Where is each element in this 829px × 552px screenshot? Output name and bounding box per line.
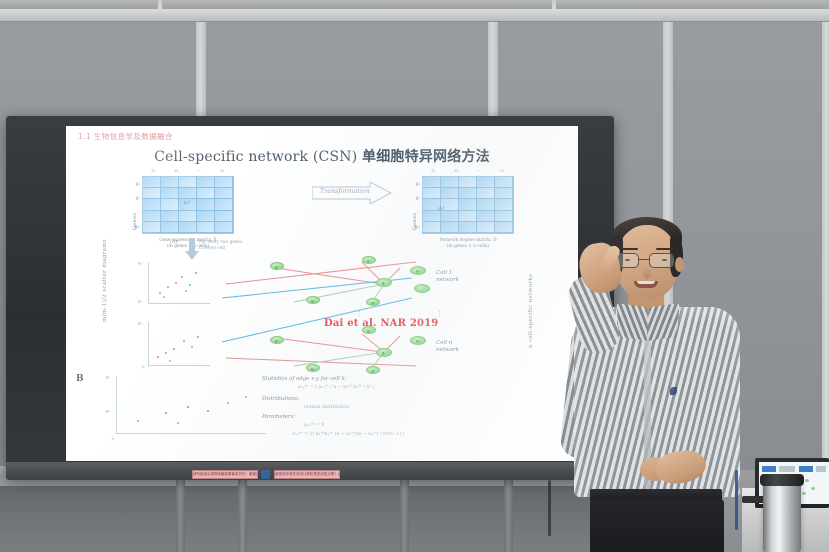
panel-b-origin: 0 <box>112 436 115 441</box>
scatter-side-label: m(m-1)/2 scatter diagrams <box>102 239 108 322</box>
col-label: c₂ <box>174 168 178 173</box>
wall-pillar-4 <box>822 22 829 470</box>
presenter-nose <box>643 267 651 279</box>
scatter-2-y-label: gᵧ <box>138 320 142 325</box>
network-ellipsis: ⋮ <box>356 310 365 318</box>
cabinet-leg-4 <box>504 476 513 552</box>
network-2-node: gₓ <box>376 348 392 357</box>
cabinet-leg-2 <box>238 476 247 552</box>
network-name-line-2: network <box>436 347 459 353</box>
row-label: g₁ <box>130 181 140 186</box>
network-side-label: n cell-specific networks <box>528 274 534 348</box>
network-1-node <box>414 284 430 293</box>
presenter-trousers <box>590 499 724 552</box>
network-ellipsis: ⋮ <box>436 310 445 318</box>
scatter-panel-1 <box>148 262 210 304</box>
gene-expression-matrix-group: c₁ c₂ ··· cₙ g₁ g₂ ⋮ gₘ <box>142 176 234 234</box>
presenter-brow-right <box>656 248 674 250</box>
network-1-label: Cell 1 network <box>436 270 459 284</box>
thermos-lid <box>760 474 804 486</box>
slide-title-en: Cell-specific network (CSN) <box>154 149 362 165</box>
col-label: cₙ <box>220 168 224 173</box>
presenter <box>560 215 750 552</box>
distributions-title: Distributions: <box>262 396 299 402</box>
row-label: g₁ <box>410 181 420 186</box>
slide-title-cn: 单细胞特异网络方法 <box>362 149 490 165</box>
slide-title: Cell-specific network (CSN) 单细胞特异网络方法 <box>66 146 578 166</box>
row-label: g₂ <box>130 195 140 200</box>
shirt-collar-left <box>616 303 649 341</box>
ceiling-strip-mid <box>162 0 552 9</box>
caption-line-2: (m genes × n cells) <box>447 244 489 249</box>
scatter-2-origin: 0 <box>142 364 145 369</box>
left-matrix-axis-label: Genes <box>132 213 138 230</box>
network-degree-matrix-group: c₁ c₂ ··· cₙ g₁ g₂ ⋮ gₘ <box>422 176 514 234</box>
ceiling-strip-right <box>556 0 829 9</box>
network-name-line-2: network <box>436 277 459 283</box>
row-label: g₂ <box>410 195 420 200</box>
panel-b-plot <box>116 376 266 434</box>
network-1-node: g₂ <box>270 262 284 270</box>
panel-b-x-label: gₓ <box>106 408 110 413</box>
glasses-icon <box>614 253 682 268</box>
network-edges <box>216 254 436 374</box>
network-1-node: gₘ <box>306 296 320 304</box>
down-arrow-note: For every two genes in every cell <box>199 239 242 250</box>
warning-sticker-1: 请勿使用尖锐物体触碰屏幕或书写！谢谢！ <box>192 470 258 479</box>
paper-citation: Dai et al. NAR 2019 <box>324 318 438 329</box>
scatter-panel-2 <box>148 322 210 366</box>
panel-b-y-label: gᵧ <box>106 374 110 379</box>
panel-b-letter: B <box>76 374 84 384</box>
down-arrow-icon <box>185 238 199 260</box>
distributions-expression: normal distribution <box>304 405 349 410</box>
caption-line-1: Network degree matrix, D <box>439 238 496 243</box>
presenter-teeth <box>637 281 655 284</box>
right-matrix-entry: dₓᵏ <box>438 206 445 212</box>
blue-cable <box>735 470 738 530</box>
slide-section-header: 1.1 生物信息学及数据融合 <box>78 131 173 142</box>
shirt-logo <box>670 387 677 395</box>
parameters-title: Parameters: <box>262 414 295 420</box>
presenter-brow-left <box>620 248 638 250</box>
parameters-expression-2: σₓᵧ⁽ᵏ⁾ = √( nₓ⁽ᵏ⁾nᵧ⁽ᵏ⁾ (n − nₓ⁽ᵏ⁾)(n − n… <box>292 432 405 437</box>
bluetooth-icon <box>261 470 270 479</box>
parameters-expression-1: μₓᵧ⁽ᵏ⁾ = 0 <box>304 423 324 428</box>
left-matrix-col-labels: c₁ c₂ ··· cₙ <box>142 168 234 173</box>
network-1-node: g₁ <box>362 256 376 264</box>
right-matrix-grid <box>422 176 514 234</box>
statistics-title: Statistics of edge x-y for cell k: <box>262 376 347 382</box>
col-label: ··· <box>477 168 481 173</box>
transformation-label: Transformation <box>314 188 376 195</box>
left-matrix-entry: xₓᵏ <box>184 200 190 206</box>
warning-sticker-2: 使用完毕请先关闭计算机再关闭显示屏！谢谢！ <box>274 470 340 479</box>
col-label: c₂ <box>454 168 458 173</box>
col-label: cₙ <box>500 168 504 173</box>
floor-cable <box>548 480 551 536</box>
panel-a-marker: (A) <box>170 239 178 245</box>
cabinet-leg-1 <box>176 476 185 552</box>
network-2-node: gₖ <box>366 366 380 374</box>
network-1-node: gₖ <box>366 298 380 306</box>
note-line-1: For every two genes <box>199 239 242 244</box>
network-2-node: g₂ <box>270 336 284 344</box>
statistics-expression: ρₓᵧ⁽ᵏ⁾ = ( nₓᵧ⁽ᵏ⁾ / n − nₓ⁽ᵏ⁾ nᵧ⁽ᵏ⁾ / n²… <box>298 385 375 390</box>
col-label: c₁ <box>431 168 435 173</box>
right-matrix-caption: Network degree matrix, D (m genes × n ce… <box>408 238 528 250</box>
lecture-room-scene: 1.1 生物信息学及数据融合 Cell-specific network (CS… <box>0 0 829 552</box>
col-label: c₁ <box>151 168 155 173</box>
ceiling-strip-left <box>0 0 158 9</box>
network-1-node: gᵧ <box>410 266 426 275</box>
note-line-2: in every cell <box>199 245 225 250</box>
thermos <box>763 480 801 552</box>
network-1-node: gₓ <box>376 278 392 287</box>
right-matrix-col-labels: c₁ c₂ ··· cₙ <box>422 168 514 173</box>
presentation-slide: 1.1 生物信息学及数据融合 Cell-specific network (CS… <box>66 126 578 461</box>
cabinet-leg-3 <box>400 476 409 552</box>
col-label: ··· <box>197 168 201 173</box>
right-matrix-axis-label: Genes <box>412 213 418 230</box>
network-2-node: gₘ <box>306 364 320 372</box>
cabinet-recess <box>0 486 640 552</box>
network-name-line-1: Cell 1 <box>436 270 452 276</box>
display-screen[interactable]: 1.1 生物信息学及数据融合 Cell-specific network (CS… <box>66 126 578 461</box>
shirt-collar-right <box>646 303 679 341</box>
scatter-1-x-label: gₓ <box>138 298 142 303</box>
network-2-node: gᵧ <box>410 336 426 345</box>
network-2-label: Cell n network <box>436 340 459 354</box>
network-name-line-1: Cell n <box>436 340 452 346</box>
scatter-1-y-label: gᵧ <box>138 260 142 265</box>
